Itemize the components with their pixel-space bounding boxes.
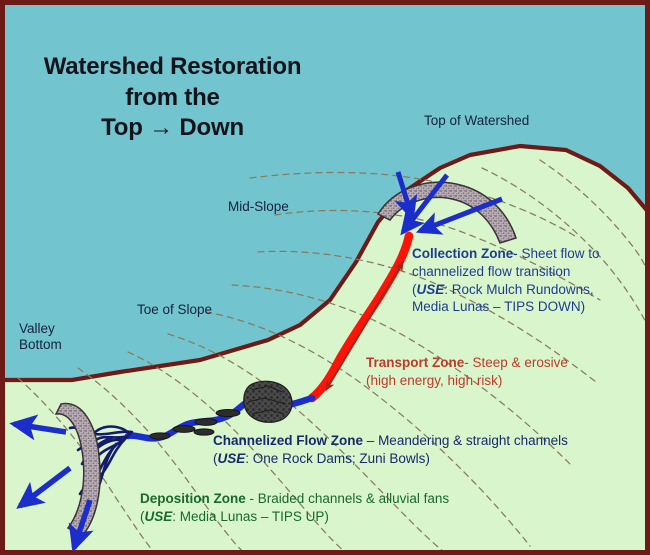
deposition-use-label: USE — [145, 509, 173, 524]
label-valley-bottom-line-1: Valley — [19, 321, 62, 337]
collection-zone-annotation: Collection Zone- Sheet flow to channeliz… — [412, 245, 600, 316]
transport-zone-name: Transport Zone — [366, 355, 464, 370]
transport-zone-line-1: Transport Zone- Steep & erosive — [366, 354, 568, 372]
collection-zone-desc-1: Sheet flow to — [522, 246, 600, 261]
watershed-restoration-figure: Watershed Restoration from the Top → Dow… — [0, 0, 650, 555]
channelized-colon: : — [245, 451, 249, 466]
deposition-zone-line-1: Deposition Zone - Braided channels & all… — [140, 490, 449, 508]
channelized-use-label: USE — [218, 451, 246, 466]
label-toe-of-slope: Toe of Slope — [137, 302, 212, 318]
channelized-zone-desc: Meandering & straight channels — [378, 433, 568, 448]
title-line-2: from the — [0, 83, 345, 114]
deposition-zone-dash: - — [250, 491, 255, 506]
deposition-zone-name: Deposition Zone — [140, 491, 246, 506]
deposition-zone-annotation: Deposition Zone - Braided channels & all… — [140, 490, 449, 526]
deposition-zone-line-2: (USE: Media Lunas – TIPS UP) — [140, 508, 449, 526]
label-valley-bottom: Valley Bottom — [19, 321, 62, 353]
channelized-zone-annotation: Channelized Flow Zone – Meandering & str… — [213, 432, 568, 468]
collection-use-label: USE — [417, 282, 445, 297]
figure-title: Watershed Restoration from the Top → Dow… — [0, 52, 345, 144]
channelized-zone-line-2: (USE: One Rock Dams; Zuni Bowls) — [213, 450, 568, 468]
title-line-1: Watershed Restoration — [0, 52, 345, 83]
collection-zone-name: Collection Zone — [412, 246, 513, 261]
collection-use-1: Rock Mulch Rundowns, — [452, 282, 594, 297]
channelized-zone-dash: – — [367, 433, 375, 448]
deposition-use-text: Media Lunas – TIPS UP) — [180, 509, 329, 524]
title-line-3: Top → Down — [0, 113, 345, 144]
zuni-bowl — [244, 381, 292, 422]
label-valley-bottom-line-2: Bottom — [19, 337, 62, 353]
deposition-colon: : — [172, 509, 176, 524]
collection-zone-line-1: Collection Zone- Sheet flow to — [412, 245, 600, 263]
channelized-zone-line-1: Channelized Flow Zone – Meandering & str… — [213, 432, 568, 450]
transport-zone-annotation: Transport Zone- Steep & erosive (high en… — [366, 354, 568, 390]
collection-zone-line-2: channelized flow transition — [412, 263, 600, 281]
transport-zone-desc: Steep & erosive — [473, 355, 568, 370]
channelized-use-text: One Rock Dams; Zuni Bowls) — [253, 451, 430, 466]
collection-zone-line-3: (USE: Rock Mulch Rundowns, — [412, 281, 600, 299]
collection-zone-dash: - — [513, 246, 518, 261]
deposition-zone-desc: Braided channels & alluvial fans — [258, 491, 449, 506]
collection-colon: : — [444, 282, 448, 297]
transport-zone-dash: - — [464, 355, 469, 370]
collection-zone-line-4: Media Lunas – TIPS DOWN) — [412, 298, 600, 316]
label-top-of-watershed: Top of Watershed — [424, 113, 529, 129]
label-mid-slope: Mid-Slope — [228, 199, 289, 215]
channelized-zone-name: Channelized Flow Zone — [213, 433, 363, 448]
transport-zone-line-2: (high energy, high risk) — [366, 372, 568, 390]
